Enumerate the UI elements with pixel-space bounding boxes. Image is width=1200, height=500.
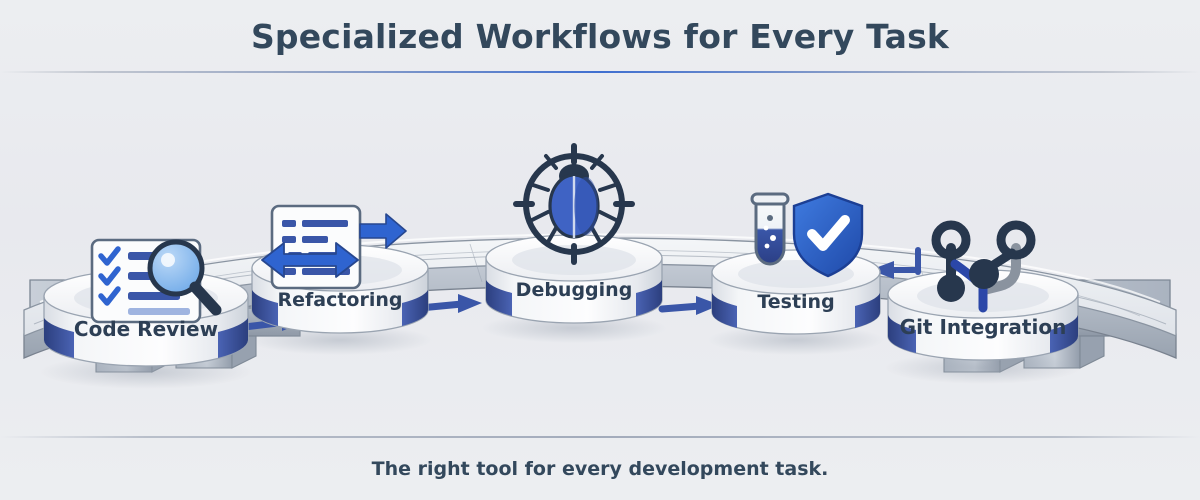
station-hit-testing[interactable]: [710, 250, 882, 330]
station-hit-git-integration[interactable]: [886, 272, 1080, 360]
arrow-debugging-to-testing: [662, 296, 720, 315]
page-title: Specialized Workflows for Every Task: [251, 17, 949, 56]
header: Specialized Workflows for Every Task: [0, 0, 1200, 72]
arrow-refactoring-to-debugging: [420, 294, 482, 313]
station-hit-debugging[interactable]: [484, 236, 664, 320]
station-debugging[interactable]: Debugging: [482, 146, 666, 343]
workflow-scene: Code Review: [0, 72, 1200, 436]
station-refactoring[interactable]: Refactoring: [248, 206, 432, 355]
station-git-integration[interactable]: Git Integration: [885, 225, 1081, 384]
illustration-canvas: Specialized Workflows for Every Task: [0, 0, 1200, 500]
station-hit-refactoring[interactable]: [250, 246, 430, 330]
station-testing[interactable]: Testing: [708, 194, 884, 355]
footer-caption: The right tool for every development tas…: [372, 458, 829, 480]
station-hit-code-review[interactable]: [42, 272, 250, 364]
footer: The right tool for every development tas…: [0, 437, 1200, 500]
